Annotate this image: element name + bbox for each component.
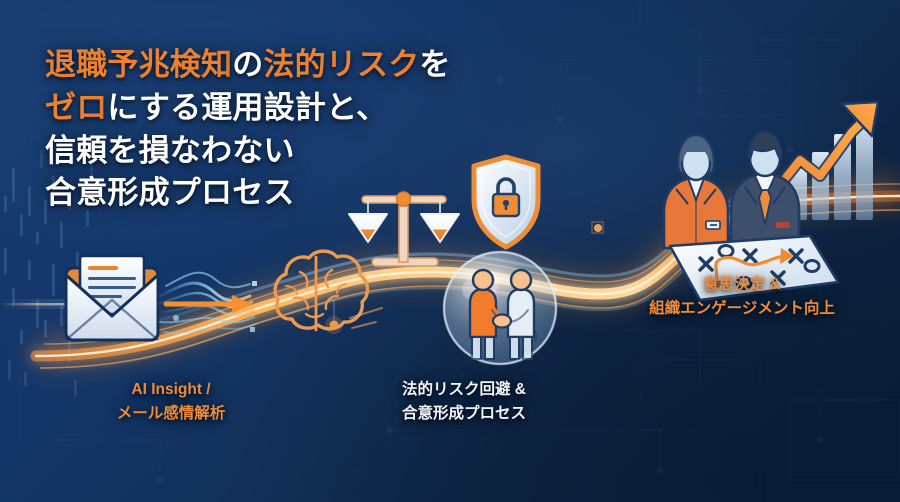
step-1-caption-line-1: AI Insight / [56,378,286,402]
headline-line-2: ゼロにする運用設計と、 [45,87,565,130]
step-2-caption-line-1: 法的リスク回避 & [348,378,580,402]
headline-seg: 退職予兆検知 [45,47,232,82]
step-3-caption-line-2: 組織エンゲージメント向上 [598,297,886,321]
step-2-caption-line-2: 合意形成プロセス [348,402,580,426]
step-3-caption: 意思決定 & 組織エンゲージメント向上 [598,273,886,321]
headline: 退職予兆検知の法的リスクを ゼロにする運用設計と、 信頼を損なわない 合意形成プ… [45,44,565,215]
headline-seg: 信頼を損なわない [45,133,295,168]
headline-seg: 合意形成プロセス [45,175,295,210]
handshake-sphere-icon [444,252,556,364]
business-people-icon [664,132,799,248]
data-stream-icon [158,273,257,333]
infographic-canvas: 退職予兆検知の法的リスクを ゼロにする運用設計と、 信頼を損なわない 合意形成プ… [0,0,900,502]
step-1-caption: AI Insight / メール感情解析 [56,378,286,426]
headline-line-3: 信頼を損なわない [45,130,565,173]
envelope-icon [66,256,158,340]
headline-line-4: 合意形成プロセス [45,172,565,215]
step-1-caption-line-2: メール感情解析 [56,402,286,426]
headline-seg: の [232,47,263,82]
headline-seg: 法的リスク [263,47,419,82]
step-2-caption: 法的リスク回避 & 合意形成プロセス [348,378,580,426]
headline-seg: ゼロ [45,90,107,125]
headline-seg: を [419,47,450,82]
brain-icon [275,251,367,330]
growth-arrow-chart-icon [776,102,878,220]
step-3-caption-line-1: 意思決定 & [598,273,886,297]
headline-seg: にする運用設計と、 [107,90,387,125]
headline-line-1: 退職予兆検知の法的リスクを [45,44,565,87]
